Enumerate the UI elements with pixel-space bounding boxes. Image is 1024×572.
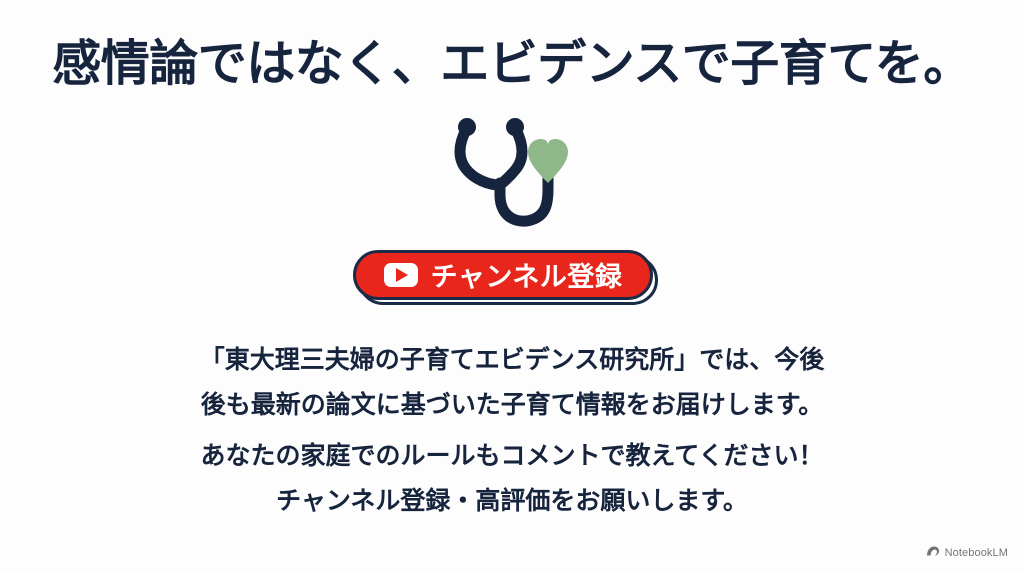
subscribe-button-area: チャンネル登録 <box>347 244 677 314</box>
body-line: あなたの家庭でのルールもコメントで教えてください！ <box>200 444 825 469</box>
stethoscope-heart-icon <box>437 110 587 228</box>
slide-canvas: 感情論ではなく、エビデンスで子育てを。 チャンネル登録 「東大理三夫婦の子育てエ <box>0 0 1024 572</box>
subscribe-button-label: チャンネル登録 <box>431 255 623 294</box>
body-line: 後も最新の論文に基づいた子育て情報をお届けします。 <box>200 393 825 418</box>
notebooklm-watermark-label: NotebookLM <box>945 547 1008 559</box>
notebooklm-logo-icon <box>926 544 940 562</box>
page-title: 感情論ではなく、エビデンスで子育てを。 <box>52 38 972 92</box>
body-paragraph: 「東大理三夫婦の子育てエビデンス研究所」では、今後 後も最新の論文に基づいた子育… <box>200 348 825 514</box>
notebooklm-watermark: NotebookLM <box>926 544 1008 562</box>
youtube-play-icon <box>384 263 418 287</box>
body-line: チャンネル登録・高評価をお願いします。 <box>200 489 825 514</box>
body-line: 「東大理三夫婦の子育てエビデンス研究所」では、今後 <box>200 348 825 373</box>
subscribe-button[interactable]: チャンネル登録 <box>353 250 653 300</box>
